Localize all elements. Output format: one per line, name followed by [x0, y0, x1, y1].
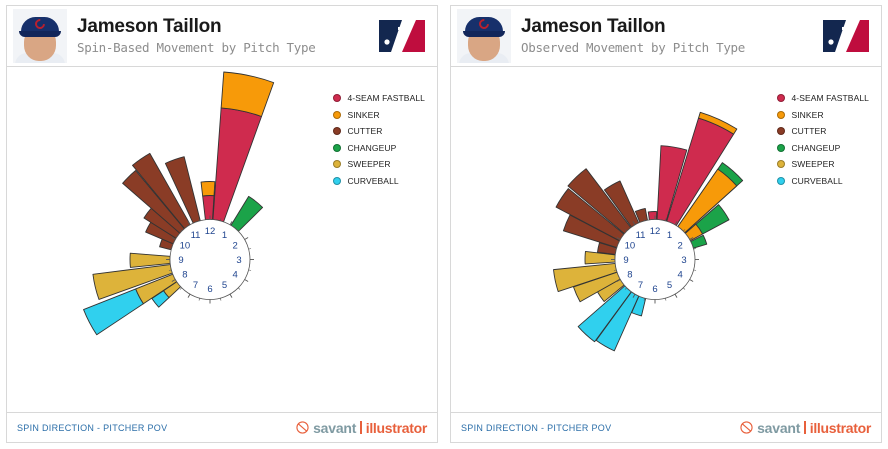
legend-color-dot [777, 144, 785, 152]
legend-1: 4-SEAM FASTBALLSINKERCUTTERCHANGEUPSWEEP… [777, 93, 869, 186]
legend-label: 4-SEAM FASTBALL [347, 93, 425, 103]
clock-hour-label-10: 10 [180, 240, 191, 251]
legend-label: SWEEPER [791, 159, 834, 169]
legend-color-dot [777, 111, 785, 119]
brand-divider [804, 421, 806, 434]
clock-hour-label-5: 5 [667, 280, 672, 291]
legend-label: CHANGEUP [347, 143, 396, 153]
clock-hour-label-12: 12 [205, 226, 216, 237]
chart-subtitle: Observed Movement by Pitch Type [521, 40, 819, 55]
legend-label: SWEEPER [347, 159, 390, 169]
clock-hour-label-7: 7 [638, 280, 643, 291]
clock-tick [694, 249, 696, 250]
legend-color-dot [333, 177, 341, 185]
brand-savant: savant [757, 420, 800, 436]
brand-divider [360, 421, 362, 434]
clock-hour-label-8: 8 [182, 269, 187, 280]
legend-item-sweeper[interactable]: SWEEPER [333, 159, 425, 169]
legend-item-4-seam-fastball[interactable]: 4-SEAM FASTBALL [777, 93, 869, 103]
legend-color-dot [777, 177, 785, 185]
chart-body: 123456789101112 4-SEAM FASTBALLSINKERCUT… [6, 67, 438, 413]
legend-item-changeup[interactable]: CHANGEUP [333, 143, 425, 153]
player-headshot [457, 9, 511, 63]
legend-item-cutter[interactable]: CUTTER [333, 126, 425, 136]
savant-illustrator-page: Jameson Taillon Spin-Based Movement by P… [0, 0, 888, 449]
rose-wedge-sinker[interactable] [201, 182, 215, 196]
clock-hour-label-2: 2 [232, 240, 237, 251]
chart-subtitle: Spin-Based Movement by Pitch Type [77, 40, 375, 55]
clock-hour-label-4: 4 [232, 269, 237, 280]
clock-tick [694, 270, 696, 271]
legend-label: 4-SEAM FASTBALL [791, 93, 869, 103]
legend-label: CUTTER [791, 126, 826, 136]
mlb-logo-icon [375, 18, 429, 54]
clock-hour-label-11: 11 [636, 230, 646, 241]
clock-tick [230, 294, 232, 297]
player-name: Jameson Taillon [521, 17, 819, 38]
legend-item-sweeper[interactable]: SWEEPER [777, 159, 869, 169]
clock-hour-label-1: 1 [667, 230, 672, 241]
legend-label: CHANGEUP [791, 143, 840, 153]
legend-color-dot [333, 144, 341, 152]
savant-illustrator-logo: savant illustrator [740, 420, 871, 436]
panel-spin-based: Jameson Taillon Spin-Based Movement by P… [0, 0, 444, 449]
clock-hour-label-6: 6 [652, 284, 657, 295]
legend-item-changeup[interactable]: CHANGEUP [777, 143, 869, 153]
legend-label: SINKER [347, 110, 379, 120]
clock-tick [238, 288, 240, 290]
clock-hour-label-10: 10 [625, 240, 636, 251]
legend-item-4-seam-fastball[interactable]: 4-SEAM FASTBALL [333, 93, 425, 103]
legend-item-curveball[interactable]: CURVEBALL [777, 176, 869, 186]
clock-hour-label-1: 1 [222, 230, 227, 241]
rose-wedge-4-seam-fastball[interactable] [648, 212, 657, 220]
clock-tick [690, 280, 693, 282]
legend-label: CURVEBALL [347, 176, 398, 186]
clock-tick [220, 298, 221, 300]
chart-body: 123456789101112 4-SEAM FASTBALLSINKERCUT… [450, 67, 882, 413]
clock-tick [249, 270, 251, 271]
clock-hour-label-8: 8 [627, 269, 632, 280]
legend-label: CURVEBALL [791, 176, 842, 186]
footer-caption: SPIN DIRECTION - PITCHER POV [461, 423, 611, 433]
legend-color-dot [777, 94, 785, 102]
clock-tick [199, 298, 200, 300]
legend-color-dot [333, 160, 341, 168]
legend-color-dot [333, 94, 341, 102]
legend-item-curveball[interactable]: CURVEBALL [333, 176, 425, 186]
rose-wedge-4-seam-fastball[interactable] [203, 196, 214, 220]
clock-hour-label-7: 7 [193, 280, 198, 291]
panel-observed: Jameson Taillon Observed Movement by Pit… [444, 0, 888, 449]
clock-hour-label-9: 9 [623, 255, 628, 266]
clock-hour-label-9: 9 [178, 255, 183, 266]
brand-illustrator: illustrator [810, 420, 871, 436]
clock-hour-label-2: 2 [677, 240, 682, 251]
clock-hour-label-11: 11 [191, 230, 201, 241]
footer-caption: SPIN DIRECTION - PITCHER POV [17, 423, 167, 433]
clock-tick [249, 249, 251, 250]
savant-illustrator-logo: savant illustrator [296, 420, 427, 436]
clock-tick [245, 280, 248, 282]
legend-color-dot [333, 127, 341, 135]
legend-0: 4-SEAM FASTBALLSINKERCUTTERCHANGEUPSWEEP… [333, 93, 425, 186]
panel-header: Jameson Taillon Observed Movement by Pit… [450, 5, 882, 67]
clock-tick [665, 298, 666, 300]
clock-tick [675, 294, 677, 297]
legend-color-dot [333, 111, 341, 119]
legend-color-dot [777, 160, 785, 168]
clock-hour-label-3: 3 [236, 255, 241, 266]
legend-item-cutter[interactable]: CUTTER [777, 126, 869, 136]
legend-color-dot [777, 127, 785, 135]
player-name: Jameson Taillon [77, 17, 375, 38]
legend-label: CUTTER [347, 126, 382, 136]
clock-tick [245, 238, 248, 240]
legend-item-sinker[interactable]: SINKER [777, 110, 869, 120]
clock-hour-label-12: 12 [650, 226, 661, 237]
rose-wedge-changeup[interactable] [231, 196, 263, 231]
clock-tick [188, 294, 190, 297]
panel-footer: SPIN DIRECTION - PITCHER POV savant illu… [450, 413, 882, 443]
panel-header: Jameson Taillon Spin-Based Movement by P… [6, 5, 438, 67]
wedge-layer-0 [84, 72, 274, 335]
clock-tick [683, 288, 685, 290]
clock-hour-label-6: 6 [207, 284, 212, 295]
player-headshot [13, 9, 67, 63]
clock-hour-label-5: 5 [222, 280, 227, 291]
legend-label: SINKER [791, 110, 823, 120]
brand-illustrator: illustrator [366, 420, 427, 436]
baseball-icon [296, 421, 309, 434]
clock-tick [180, 288, 182, 290]
clock-hour-label-3: 3 [681, 255, 686, 266]
mlb-logo-icon [819, 18, 873, 54]
baseball-icon [740, 421, 753, 434]
legend-item-sinker[interactable]: SINKER [333, 110, 425, 120]
clock-hour-label-4: 4 [677, 269, 682, 280]
rose-wedge-curveball[interactable] [84, 289, 144, 335]
brand-savant: savant [313, 420, 356, 436]
panel-footer: SPIN DIRECTION - PITCHER POV savant illu… [6, 413, 438, 443]
